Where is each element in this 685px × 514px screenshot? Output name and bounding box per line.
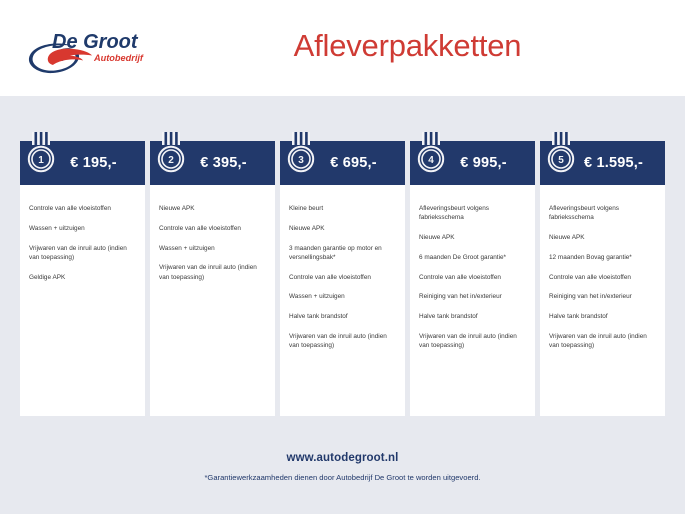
medal-rank: 4: [428, 155, 434, 166]
package-feature: Halve tank brandstof: [549, 312, 656, 321]
package-card-header: 4 € 995,-: [410, 141, 535, 185]
package-card-header: 1 € 195,-: [20, 141, 145, 185]
package-feature: Vrijwaren van de inruil auto (indien van…: [289, 332, 396, 351]
package-feature: Halve tank brandstof: [289, 312, 396, 321]
package-feature: Afleveringsbeurt volgens fabrieksschema: [549, 204, 656, 223]
warranty-disclaimer: *Garantiewerkzaamheden dienen door Autob…: [0, 473, 685, 482]
medal-rank: 1: [38, 155, 44, 166]
package-feature: Reiniging van het in/exterieur: [419, 292, 526, 301]
package-feature: Wassen + uitzuigen: [289, 292, 396, 301]
medal-rank: 2: [168, 155, 174, 166]
package-card-list: 1 € 195,- Controle van alle vloeistoffen…: [20, 141, 665, 416]
medal-rank: 5: [558, 155, 564, 166]
page-footer: www.autodegroot.nl *Garantiewerkzaamhede…: [0, 452, 685, 482]
package-feature: Controle van alle vloeistoffen: [549, 273, 656, 282]
package-feature: 6 maanden De Groot garantie*: [419, 253, 526, 262]
package-price: € 995,-: [438, 155, 507, 171]
package-card[interactable]: 5 € 1.595,- Afleveringsbeurt volgens fab…: [540, 141, 665, 416]
website-link[interactable]: www.autodegroot.nl: [0, 452, 685, 464]
medal-icon: 1: [27, 132, 55, 179]
package-feature: Controle van alle vloeistoffen: [29, 204, 136, 213]
package-feature: Wassen + uitzuigen: [159, 244, 266, 253]
package-feature: Afleveringsbeurt volgens fabrieksschema: [419, 204, 526, 223]
medal-icon: 2: [157, 132, 185, 179]
package-price: € 395,-: [178, 155, 247, 171]
package-card[interactable]: 4 € 995,- Afleveringsbeurt volgens fabri…: [410, 141, 535, 416]
package-card[interactable]: 1 € 195,- Controle van alle vloeistoffen…: [20, 141, 145, 416]
package-feature-list: Controle van alle vloeistoffen Wassen + …: [20, 185, 145, 416]
package-feature: Vrijwaren van de inruil auto (indien van…: [159, 263, 266, 282]
medal-icon: 4: [417, 132, 445, 179]
package-feature: 3 maanden garantie op motor en versnelli…: [289, 244, 396, 263]
package-card-header: 2 € 395,-: [150, 141, 275, 185]
package-feature: Nieuwe APK: [419, 233, 526, 242]
package-price: € 695,-: [308, 155, 377, 171]
package-price: € 195,-: [48, 155, 117, 171]
package-feature: Kleine beurt: [289, 204, 396, 213]
medal-icon: 5: [547, 132, 575, 179]
package-card-header: 3 € 695,-: [280, 141, 405, 185]
package-card[interactable]: 3 € 695,- Kleine beurt Nieuwe APK 3 maan…: [280, 141, 405, 416]
package-feature: Halve tank brandstof: [419, 312, 526, 321]
package-feature: Vrijwaren van de inruil auto (indien van…: [549, 332, 656, 351]
package-feature: Controle van alle vloeistoffen: [289, 273, 396, 282]
package-feature: Vrijwaren van de inruil auto (indien van…: [419, 332, 526, 351]
package-feature: Nieuwe APK: [549, 233, 656, 242]
package-card[interactable]: 2 € 395,- Nieuwe APK Controle van alle v…: [150, 141, 275, 416]
package-card-header: 5 € 1.595,-: [540, 141, 665, 185]
page-header: De Groot Autobedrijf Afleverpakketten: [0, 0, 685, 96]
package-feature: Wassen + uitzuigen: [29, 224, 136, 233]
page-title: Afleverpakketten: [0, 28, 685, 64]
medal-icon: 3: [287, 132, 315, 179]
package-feature: Vrijwaren van de inruil auto (indien van…: [29, 244, 136, 263]
package-feature-list: Afleveringsbeurt volgens fabrieksschema …: [540, 185, 665, 416]
package-feature-list: Nieuwe APK Controle van alle vloeistoffe…: [150, 185, 275, 416]
package-feature-list: Afleveringsbeurt volgens fabrieksschema …: [410, 185, 535, 416]
package-feature: Reiniging van het in/exterieur: [549, 292, 656, 301]
medal-rank: 3: [298, 155, 304, 166]
package-feature-list: Kleine beurt Nieuwe APK 3 maanden garant…: [280, 185, 405, 416]
package-feature: Controle van alle vloeistoffen: [159, 224, 266, 233]
package-feature: Nieuwe APK: [159, 204, 266, 213]
package-feature: 12 maanden Bovag garantie*: [549, 253, 656, 262]
package-feature: Nieuwe APK: [289, 224, 396, 233]
package-feature: Geldige APK: [29, 273, 136, 282]
package-feature: Controle van alle vloeistoffen: [419, 273, 526, 282]
